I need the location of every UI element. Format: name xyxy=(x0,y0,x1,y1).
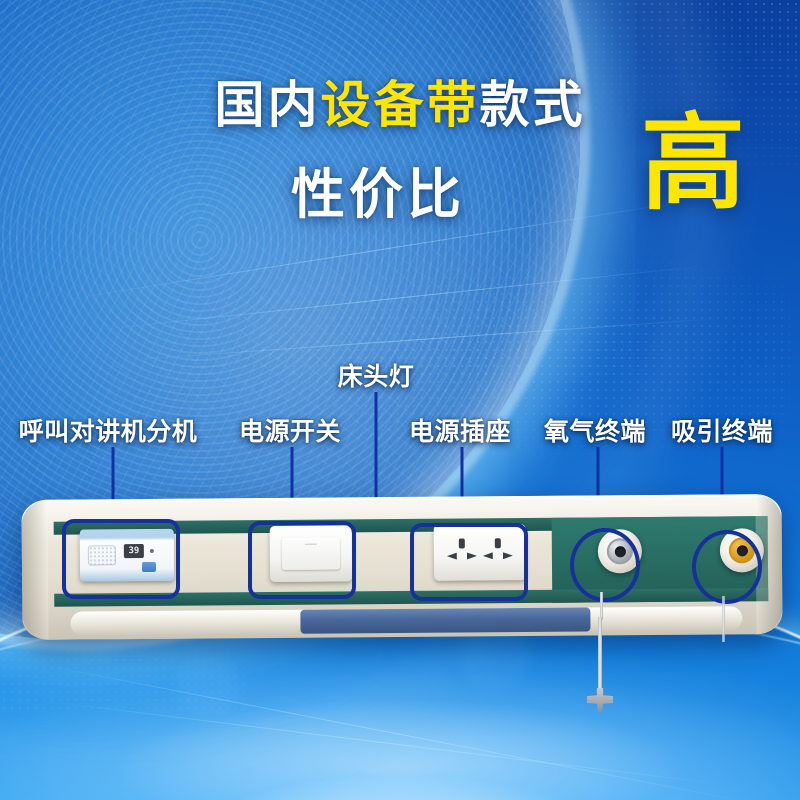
headline-subtitle: 性价比 xyxy=(291,150,465,229)
callout-power-socket: 电源插座 xyxy=(409,412,511,448)
highlight-box-intercom xyxy=(62,519,180,599)
callout-oxygen-terminal: 氧气终端 xyxy=(544,412,646,448)
callout-power-switch: 电源开关 xyxy=(239,412,341,448)
headline-emphasis: 高 xyxy=(641,112,745,216)
light-streak-3 xyxy=(120,318,719,361)
callout-intercom: 呼叫对讲机分机 xyxy=(19,412,198,448)
poster-canvas: 国内设备带款式 性价比 高 呼叫对讲机分机 电源开关 床头灯 电源插座 氧气终端… xyxy=(0,0,800,800)
highlight-ring-suction-terminal xyxy=(692,530,762,604)
light-streak-4 xyxy=(40,700,735,786)
oxygen-cord-upper xyxy=(600,592,603,620)
panel-bottom-rail-blue-section xyxy=(300,608,590,634)
callout-suction-terminal: 吸引终端 xyxy=(671,412,773,448)
suction-cord xyxy=(722,596,725,642)
callout-label-oxygen-terminal: 氧气终端 xyxy=(544,412,646,448)
callout-label-suction-terminal: 吸引终端 xyxy=(671,412,773,448)
callout-label-intercom: 呼叫对讲机分机 xyxy=(19,412,198,448)
headline-part-3: 款式 xyxy=(480,77,586,133)
callout-label-power-switch: 电源开关 xyxy=(239,412,341,448)
highlight-ring-oxygen-terminal xyxy=(570,528,640,602)
callout-bed-lamp: 床头灯 xyxy=(338,357,415,393)
light-streak-2 xyxy=(90,265,707,331)
headline-part-2: 设备带 xyxy=(321,77,480,133)
headline-block: 国内设备带款式 性价比 高 xyxy=(0,78,800,132)
highlight-box-power-socket xyxy=(410,523,528,601)
headline-part-1: 国内 xyxy=(215,77,321,133)
oxygen-connector-fitting xyxy=(587,688,613,712)
callout-label-power-socket: 电源插座 xyxy=(409,412,511,448)
panel-end-cap-left xyxy=(21,500,48,640)
oxygen-cord xyxy=(598,617,602,697)
callout-label-bed-lamp: 床头灯 xyxy=(338,357,415,393)
light-streak-5 xyxy=(20,660,766,800)
highlight-box-power-switch xyxy=(248,521,356,599)
